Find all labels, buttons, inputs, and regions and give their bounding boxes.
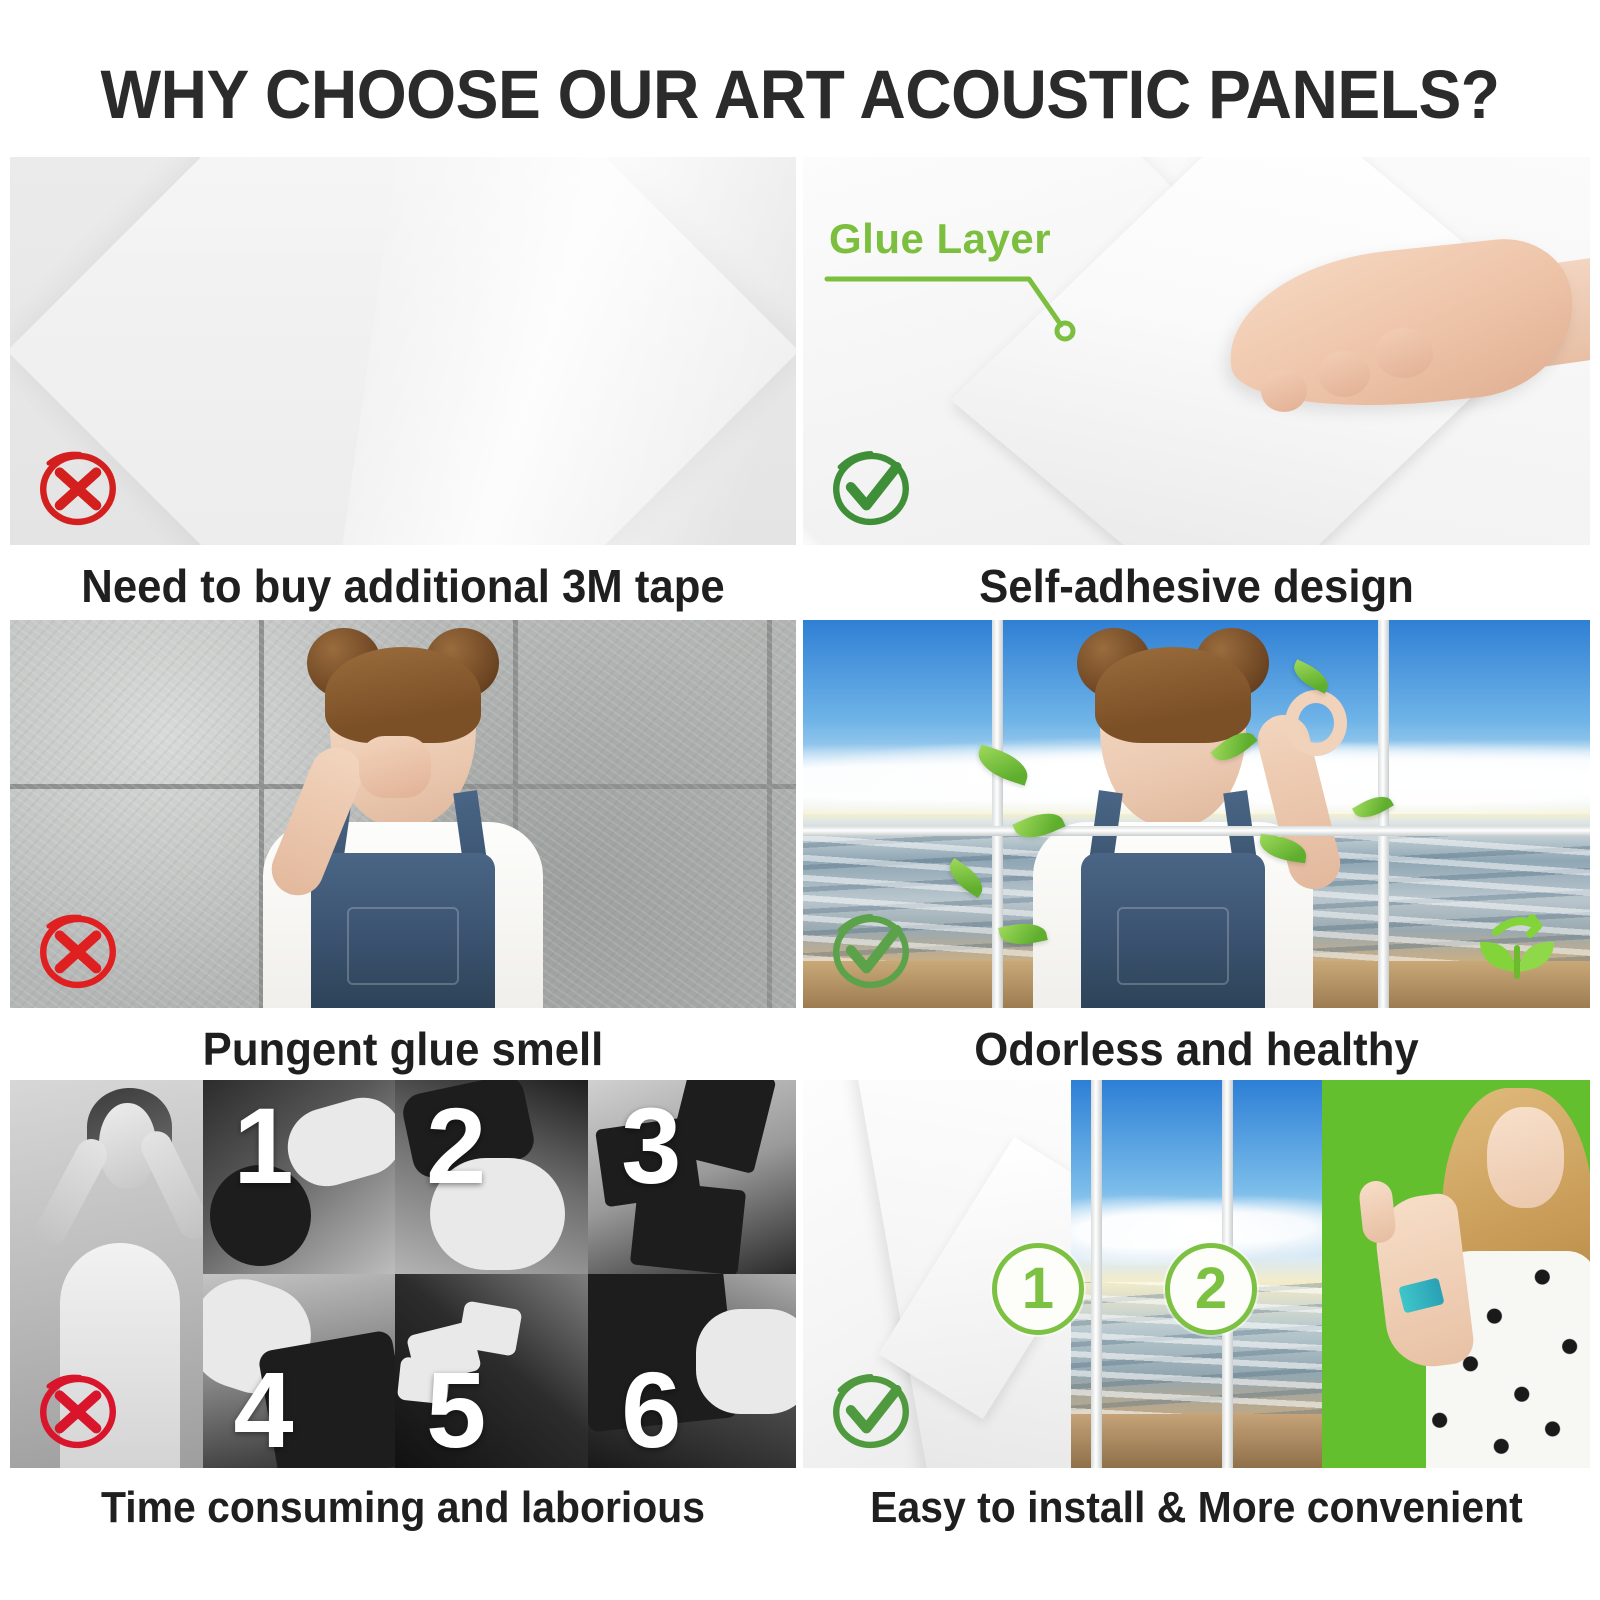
overall-pocket [1117, 907, 1229, 985]
cross-badge [32, 445, 124, 531]
cross-badge [32, 1368, 124, 1454]
caption-tape: Need to buy additional 3M tape [30, 545, 777, 612]
hair [325, 647, 481, 743]
comparison-cell-adhesive: Glue Layer Self-adhesive design [803, 157, 1590, 612]
caption-adhesive: Self-adhesive design [823, 545, 1571, 612]
face [1487, 1107, 1564, 1208]
caption-smell: Pungent glue smell [30, 1008, 777, 1075]
step-number: 3 [621, 1092, 681, 1200]
hair [1095, 647, 1251, 743]
beach-sand [1071, 1414, 1323, 1468]
photo-step-collage: 1 2 3 [10, 1080, 796, 1468]
step-number: 4 [233, 1356, 293, 1464]
girl-pinching-nose [238, 620, 568, 1008]
caption-odorless: Odorless and healthy [823, 1008, 1571, 1075]
mural-seam-vertical [992, 620, 1003, 1008]
thumbs-up-hand [1358, 1179, 1397, 1244]
photo-tile-wall-girl [10, 620, 796, 1008]
comparison-grid: Need to buy additional 3M tape Glue Laye… [0, 150, 1600, 1600]
caption-laborious: Time consuming and laborious [38, 1468, 769, 1532]
panel-sheen [341, 157, 796, 545]
glue-layer-label: Glue Layer [829, 215, 1051, 263]
green-backdrop-section [1322, 1080, 1590, 1468]
photo-ocean-mural-girl [803, 620, 1590, 1008]
knuckle [1375, 328, 1433, 378]
install-step-badge-1: 1 [992, 1243, 1084, 1335]
knuckle [1318, 351, 1370, 397]
comparison-cell-easy: 1 2 Easy to install & More convenient [803, 1080, 1590, 1532]
check-badge [825, 908, 917, 994]
check-badge [825, 445, 917, 531]
check-badge [825, 1368, 917, 1454]
mural-seam-vertical [1378, 620, 1389, 1008]
eco-leaf-icon [1466, 898, 1566, 994]
step-number: 5 [426, 1356, 486, 1464]
page-title: WHY CHOOSE OUR ART ACOUSTIC PANELS? [56, 55, 1544, 134]
thumbs-up-woman [1397, 1080, 1590, 1468]
step-tile-3: 3 [588, 1080, 796, 1274]
comparison-cell-odorless: Odorless and healthy [803, 620, 1590, 1075]
photo-install-steps: 1 2 [803, 1080, 1590, 1468]
photo-self-adhesive: Glue Layer [803, 157, 1590, 545]
mural-seam-horizontal [803, 826, 1590, 836]
comparison-cell-laborious: 1 2 3 [10, 1080, 796, 1532]
step-tile-6: 6 [588, 1274, 796, 1468]
comparison-cell-smell: Pungent glue smell [10, 620, 796, 1075]
step-tile-2: 2 [395, 1080, 588, 1274]
knuckle [1261, 370, 1307, 412]
step-number: 2 [426, 1092, 486, 1200]
step-tile-1: 1 [203, 1080, 396, 1274]
install-step-badge-2: 2 [1165, 1243, 1257, 1335]
step-number: 1 [233, 1092, 293, 1200]
overall-pocket [347, 907, 459, 985]
girl-ok-sign [1008, 620, 1338, 1008]
step-number: 6 [621, 1356, 681, 1464]
photo-plain-panel [10, 157, 796, 545]
step-tile-4: 4 [203, 1274, 396, 1468]
caption-easy: Easy to install & More convenient [831, 1468, 1563, 1532]
cross-badge [32, 908, 124, 994]
step-tile-5: 5 [395, 1274, 588, 1468]
glue-layer-leader-line [821, 265, 1091, 355]
mural-seam-vertical [1091, 1080, 1102, 1468]
infographic-page: WHY CHOOSE OUR ART ACOUSTIC PANELS? Need… [0, 0, 1600, 1600]
comparison-cell-tape: Need to buy additional 3M tape [10, 157, 796, 612]
ok-hand-sign [1285, 690, 1347, 756]
fist-at-nose [359, 736, 431, 798]
